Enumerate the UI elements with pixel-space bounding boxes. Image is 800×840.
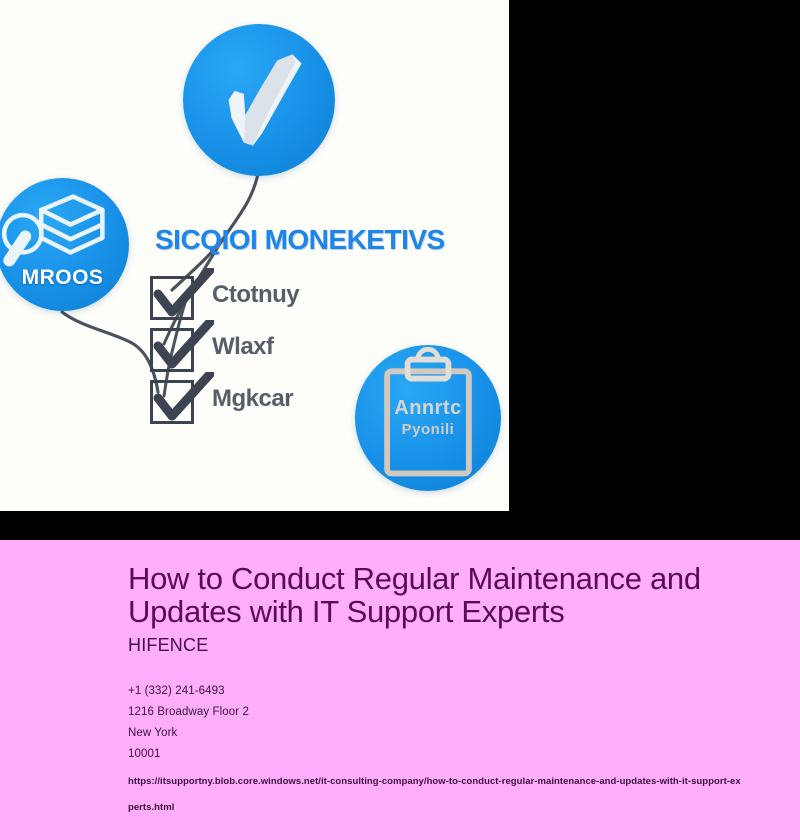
clipboard-icon [355, 345, 501, 491]
checkmark-icon [152, 372, 214, 428]
contact-city: New York [128, 723, 746, 744]
checklist-item-label: Ctotnuy [212, 281, 299, 309]
badge-reporting: Annrtc Pyonili [355, 345, 501, 491]
badge-monitoring: MROOS [0, 178, 129, 311]
page-title: How to Conduct Regular Maintenance and U… [128, 562, 746, 628]
checkmark-icon [152, 268, 214, 324]
illustration-canvas: MROOS Annrtc Pyonili SICQIOI MONEKETIVS [0, 0, 509, 511]
contact-block: +1 (332) 241-6493 1216 Broadway Floor 2 … [128, 681, 746, 765]
checkmark-icon [152, 320, 214, 376]
illustration-heading: SICQIOI MONEKETIVS [155, 224, 445, 256]
source-url-link[interactable]: https://itsupportny.blob.core.windows.ne… [128, 769, 746, 821]
checklist-item-label: Mgkcar [212, 385, 293, 413]
black-divider-band [0, 511, 800, 540]
contact-street: 1216 Broadway Floor 2 [128, 702, 746, 723]
badge-checkmark [183, 24, 335, 176]
article-card-page: MROOS Annrtc Pyonili SICQIOI MONEKETIVS [0, 0, 800, 840]
article-info-panel: How to Conduct Regular Maintenance and U… [0, 540, 800, 840]
contact-zip: 10001 [128, 744, 746, 765]
checklist-item-label: Wlaxf [212, 333, 274, 361]
contact-phone: +1 (332) 241-6493 [128, 681, 746, 702]
brand-name: HIFENCE [128, 634, 746, 656]
magnifier-server-icon [0, 178, 129, 311]
check-circle-icon [183, 24, 335, 176]
hero-illustration: MROOS Annrtc Pyonili SICQIOI MONEKETIVS [0, 0, 509, 511]
